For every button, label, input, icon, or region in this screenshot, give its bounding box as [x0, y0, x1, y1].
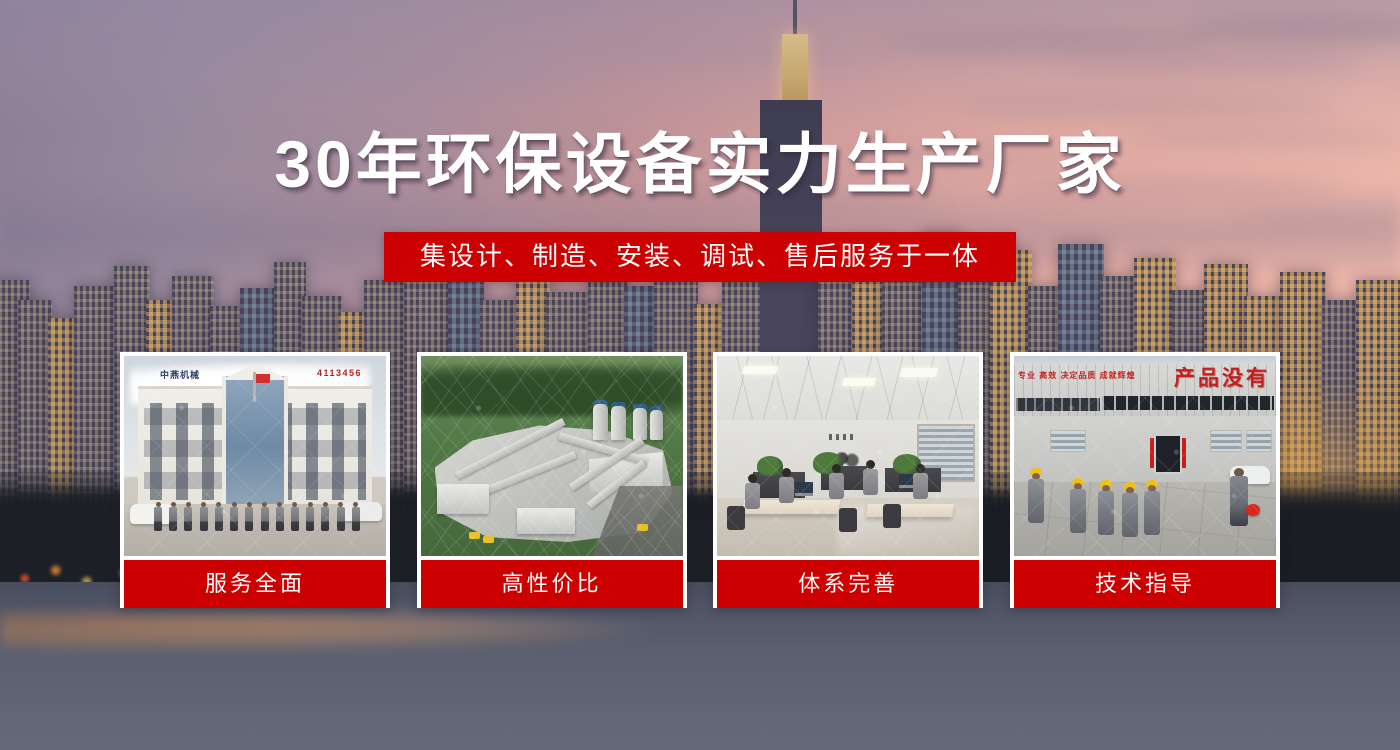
worker-with-hardhat	[1144, 480, 1158, 526]
worker-with-hardhat	[1098, 480, 1113, 528]
feature-card[interactable]: 高性价比	[417, 352, 687, 608]
subtitle-row: 集设计、制造、安装、调试、售后服务于一体	[0, 232, 1400, 282]
office-worker	[863, 460, 877, 494]
factory-door	[1154, 434, 1182, 474]
card-photo-headquarters: 中燕机械 4113456	[124, 356, 386, 556]
card-photo-factory-workers: 专业 高效 决定品质 成就辉煌 产品没有	[1014, 356, 1276, 556]
red-helmet	[1246, 504, 1260, 516]
ceiling-light	[900, 368, 939, 377]
banner-content: 30年环保设备实力生产厂家 集设计、制造、安装、调试、售后服务于一体 中燕机械 …	[0, 0, 1400, 750]
worker-with-hardhat	[1070, 478, 1086, 528]
office-worker	[745, 474, 760, 510]
factory-slogan-small: 专业 高效 决定品质 成就辉煌	[1018, 370, 1136, 382]
card-caption: 技术指导	[1014, 560, 1276, 608]
office-worker	[779, 468, 794, 504]
worker-with-hardhat	[1122, 482, 1136, 528]
flag-icon	[253, 372, 256, 402]
card-photo-industrial-plant	[421, 356, 683, 556]
worker-with-hardhat	[1028, 468, 1044, 524]
monitor	[795, 482, 813, 496]
building-phone-text: 4113456	[317, 368, 362, 378]
subtitle-badge: 集设计、制造、安装、调试、售后服务于一体	[384, 232, 1016, 282]
supervisor	[1230, 468, 1248, 526]
feature-card[interactable]: 中燕机械 4113456 服务全面	[120, 352, 390, 608]
chair	[839, 508, 857, 532]
card-caption: 服务全面	[124, 560, 386, 608]
building-sign-text: 中燕机械	[160, 368, 200, 381]
feature-card[interactable]: 体系完善	[713, 352, 983, 608]
card-caption: 体系完善	[717, 560, 979, 608]
office-worker	[913, 464, 927, 498]
feature-card-list: 中燕机械 4113456 服务全面	[120, 352, 1280, 608]
page-title: 30年环保设备实力生产厂家	[0, 131, 1400, 197]
chair	[727, 506, 745, 530]
chair	[883, 504, 901, 528]
ceiling-light	[742, 366, 779, 374]
card-photo-office-interior	[717, 356, 979, 556]
promo-banner: 30年环保设备实力生产厂家 集设计、制造、安装、调试、售后服务于一体 中燕机械 …	[0, 0, 1400, 750]
staff-row	[154, 502, 360, 542]
card-caption: 高性价比	[421, 560, 683, 608]
ceiling-light	[842, 378, 876, 386]
factory-slogan-large: 产品没有	[1174, 362, 1270, 392]
feature-card[interactable]: 专业 高效 决定品质 成就辉煌 产品没有	[1010, 352, 1280, 608]
office-worker	[829, 464, 844, 500]
